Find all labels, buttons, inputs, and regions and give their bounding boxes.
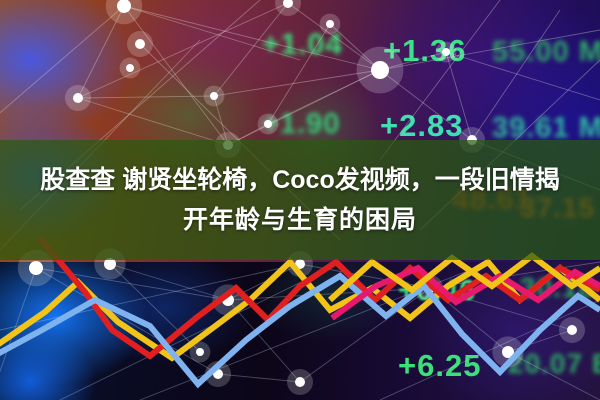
thumbnail-image: +1.04+1.3655.00 M+1.90+2.8339.61 M48.613… bbox=[0, 0, 600, 400]
caption-line-1: 股查查 谢贤坐轮椅，Coco发视频，一段旧情揭 bbox=[40, 161, 559, 199]
caption-line-2: 开年龄与生育的困局 bbox=[183, 201, 417, 239]
caption-title: 股查查 谢贤坐轮椅，Coco发视频，一段旧情揭 开年龄与生育的困局 bbox=[0, 140, 600, 260]
chart-line-gold-zigzag bbox=[0, 262, 600, 358]
